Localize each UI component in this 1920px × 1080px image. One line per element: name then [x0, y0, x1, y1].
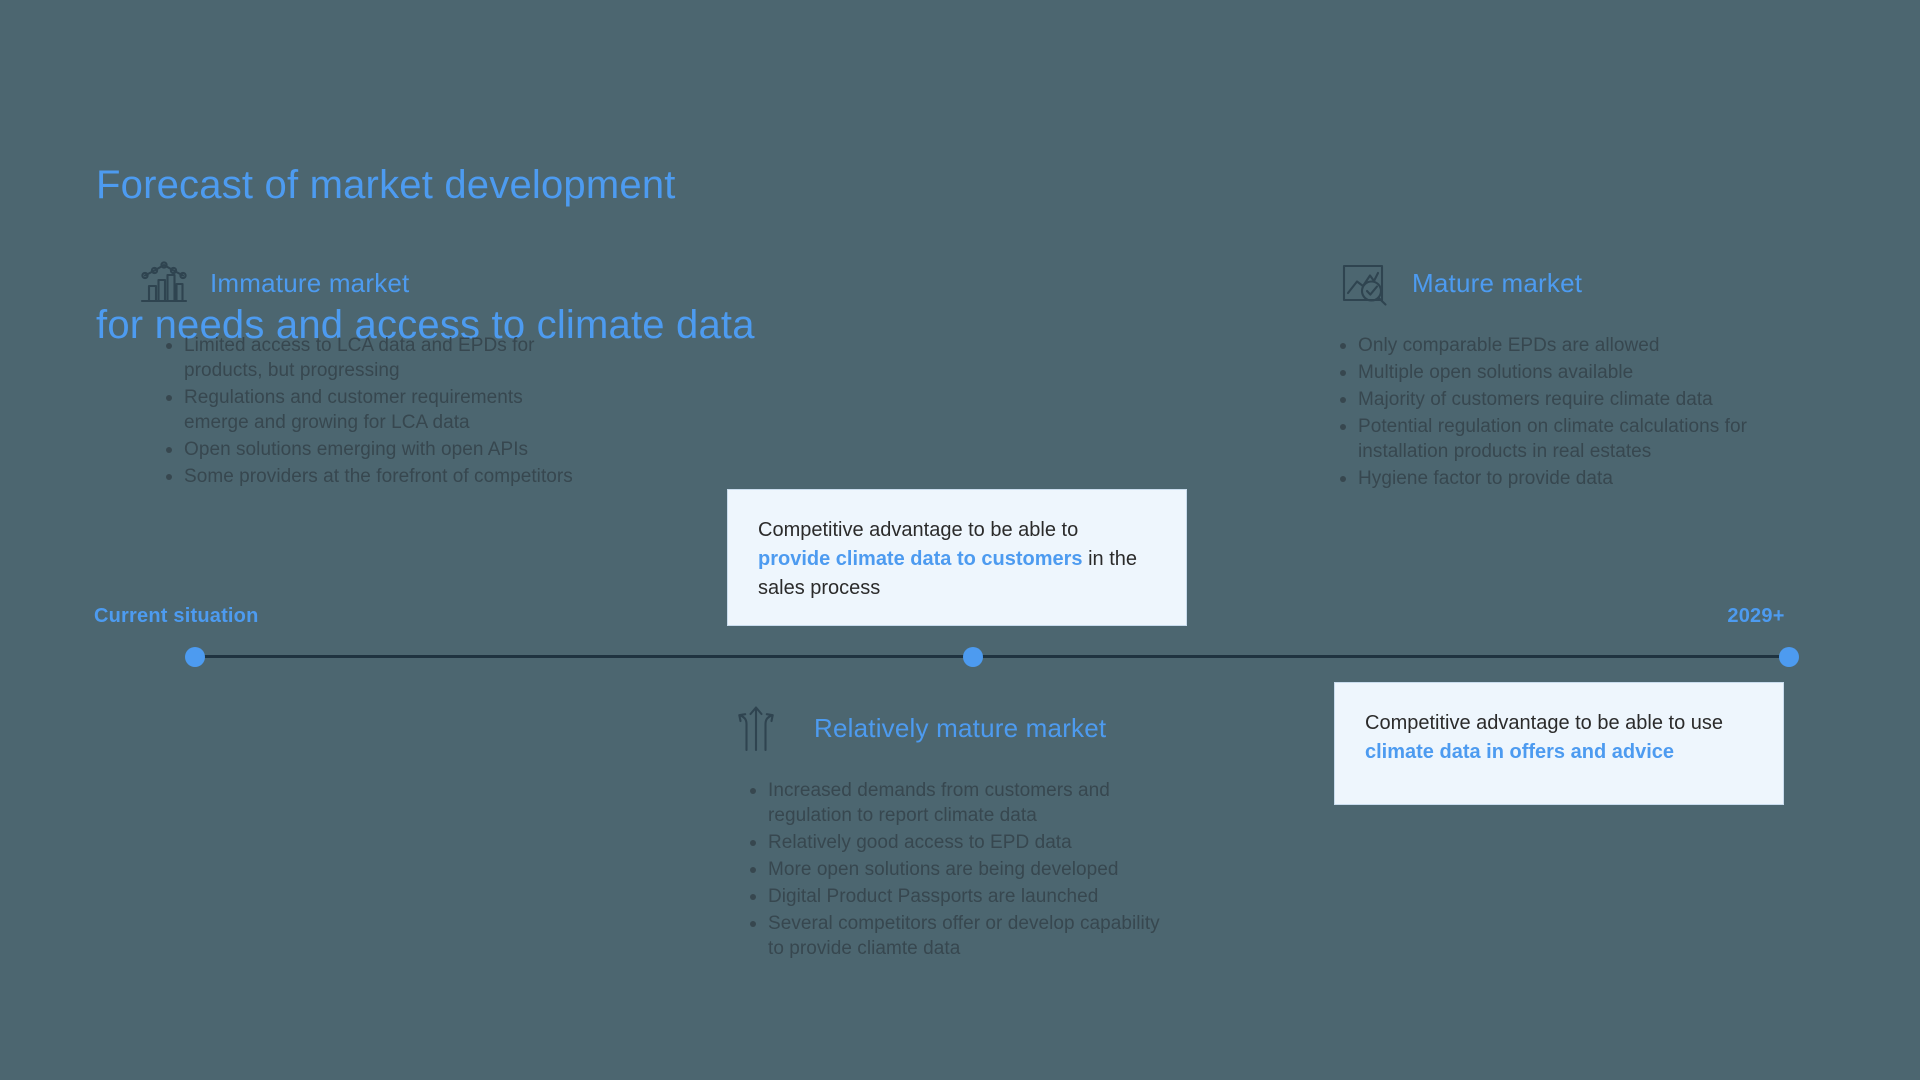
- list-item: Open solutions emerging with open APIs: [164, 437, 584, 462]
- section-title-relatively-mature: Relatively mature market: [814, 713, 1106, 744]
- bullet-list-mature: Only comparable EPDs are allowed Multipl…: [1338, 333, 1808, 491]
- timeline-axis: [196, 655, 1791, 658]
- section-header-immature: Immature market: [136, 255, 584, 311]
- bullet-list-relatively-mature: Increased demands from customers and reg…: [748, 778, 1178, 962]
- timeline-label-start: Current situation: [94, 605, 259, 628]
- section-header-relatively-mature: Relatively mature market: [728, 700, 1178, 756]
- list-item: Majority of customers require climate da…: [1338, 387, 1808, 412]
- section-title-immature: Immature market: [210, 268, 410, 299]
- list-item: Increased demands from customers and reg…: [748, 778, 1178, 828]
- section-header-mature: Mature market: [1338, 255, 1808, 311]
- list-item: Hygiene factor to provide data: [1338, 466, 1808, 491]
- timeline-marker-end[interactable]: [1779, 647, 1799, 667]
- list-item: Limited access to LCA data and EPDs for …: [164, 333, 584, 383]
- bar-chart-network-icon: [136, 255, 192, 311]
- list-item: Only comparable EPDs are allowed: [1338, 333, 1808, 358]
- list-item: More open solutions are being developed: [748, 857, 1178, 882]
- list-item: Potential regulation on climate calculat…: [1338, 414, 1808, 464]
- callout-bottom-prefix: Competitive advantage to be able to use: [1365, 712, 1723, 734]
- callout-sales-process: Competitive advantage to be able to prov…: [727, 489, 1187, 626]
- callout-bottom-highlight: climate data in offers and advice: [1365, 741, 1674, 763]
- list-item: Relatively good access to EPD data: [748, 830, 1178, 855]
- bullet-list-immature: Limited access to LCA data and EPDs for …: [164, 333, 584, 489]
- callout-top-prefix: Competitive advantage to be able to: [758, 519, 1078, 541]
- list-item: Some providers at the forefront of compe…: [164, 464, 584, 489]
- page-title-line-1: Forecast of market development: [96, 162, 755, 209]
- timeline-label-end: 2029+: [1727, 605, 1784, 628]
- chart-magnifier-check-icon: [1338, 255, 1394, 311]
- timeline-marker-start[interactable]: [185, 647, 205, 667]
- list-item: Regulations and customer requirements em…: [164, 385, 584, 435]
- timeline-marker-middle[interactable]: [963, 647, 983, 667]
- list-item: Digital Product Passports are launched: [748, 884, 1178, 909]
- section-mature-market: Mature market Only comparable EPDs are a…: [1338, 255, 1808, 493]
- list-item: Several competitors offer or develop cap…: [748, 911, 1178, 961]
- section-immature-market: Immature market Limited access to LCA da…: [136, 255, 584, 491]
- section-title-mature: Mature market: [1412, 268, 1582, 299]
- list-item: Multiple open solutions available: [1338, 360, 1808, 385]
- three-diverging-arrows-icon: [728, 700, 784, 756]
- section-relatively-mature-market: Relatively mature market Increased deman…: [728, 700, 1178, 964]
- callout-top-highlight: provide climate data to customers: [758, 548, 1083, 570]
- callout-offers-advice: Competitive advantage to be able to use …: [1334, 682, 1784, 805]
- slide-canvas: Forecast of market development for needs…: [0, 0, 1920, 1080]
